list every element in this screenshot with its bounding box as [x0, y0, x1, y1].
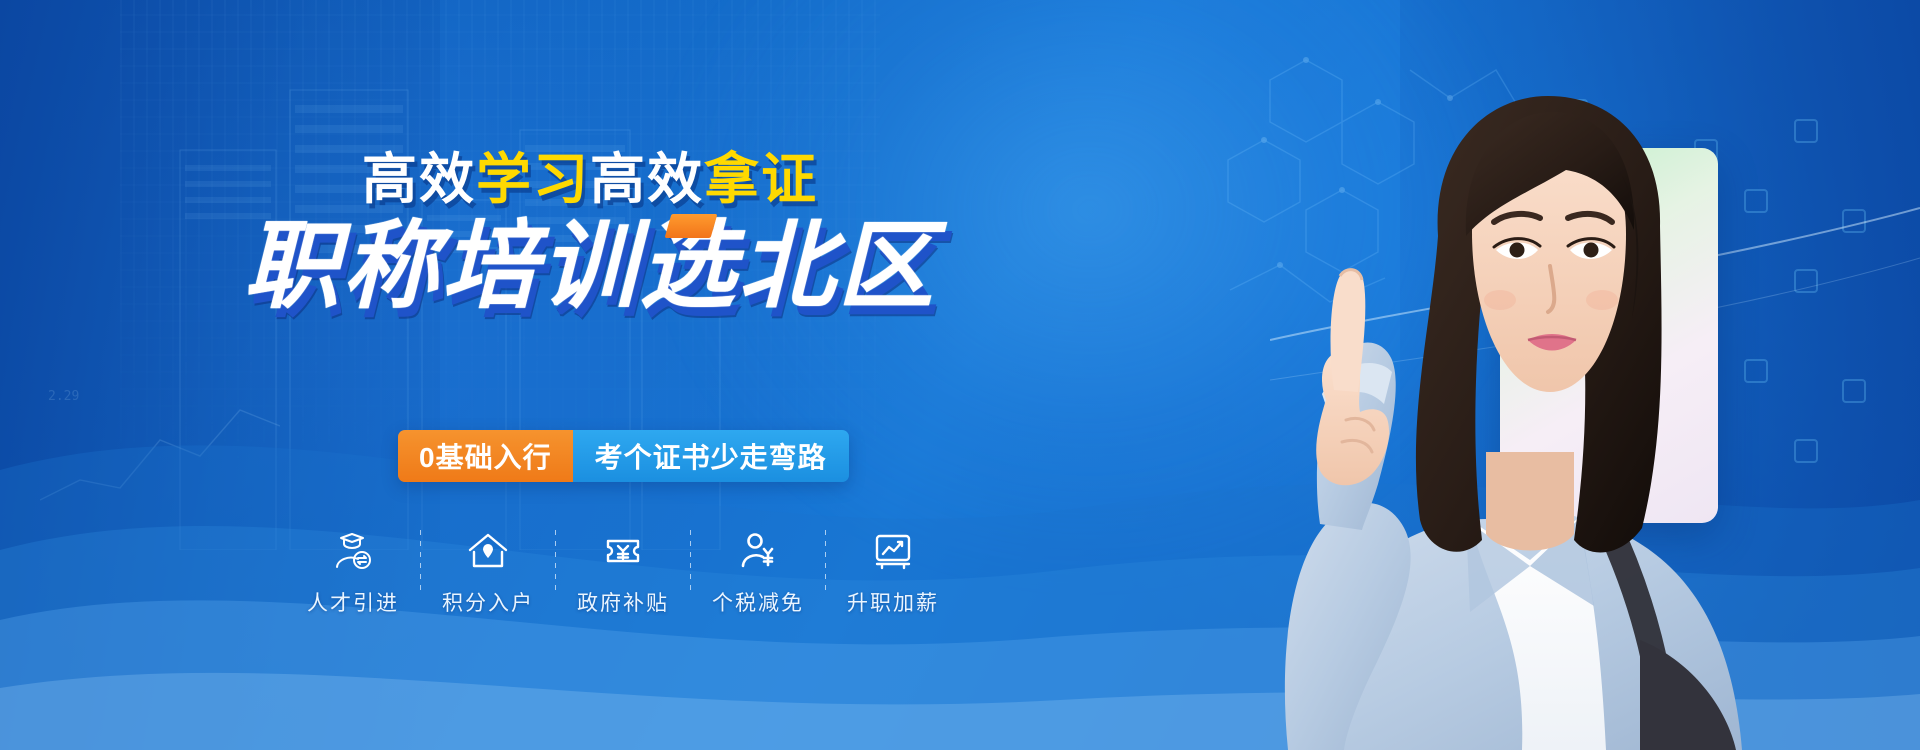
headline-accent-mark — [665, 214, 718, 238]
feature-item-tax-reduction[interactable]: 个税减免 — [691, 528, 825, 617]
feature-label: 积分入户 — [442, 587, 534, 617]
promo-banner: 2.29 高效学习高效拿证 职称培训选北区 0基础入行 考个证书少走弯路 — [0, 0, 1920, 750]
presenter-area — [1170, 0, 1920, 750]
kicker-segment-1: 高效 — [362, 148, 476, 210]
badge-primary-label: 0基础入行 — [398, 430, 573, 482]
badge-secondary-label: 考个证书少走弯路 — [573, 430, 849, 482]
banner-kicker: 高效学习高效拿证 — [0, 152, 1180, 207]
person-yuan-icon — [736, 528, 780, 574]
feature-label: 政府补贴 — [577, 587, 669, 617]
kicker-segment-4: 拿证 — [704, 148, 818, 210]
kicker-segment-3: 高效 — [590, 148, 704, 210]
feature-label: 升职加薪 — [847, 587, 939, 617]
graduate-person-icon — [331, 528, 375, 574]
house-pin-icon — [466, 528, 510, 574]
feature-label: 个税减免 — [712, 587, 804, 617]
chart-board-icon — [871, 528, 915, 574]
banner-content: 高效学习高效拿证 职称培训选北区 0基础入行 考个证书少走弯路 — [0, 0, 1180, 750]
feature-item-government-subsidy[interactable]: 政府补贴 — [556, 528, 690, 617]
presenter-photo — [1170, 0, 1920, 750]
banner-badge: 0基础入行 考个证书少走弯路 — [398, 430, 849, 482]
kicker-segment-2: 学习 — [476, 148, 590, 210]
headline-text: 职称培训选北区 — [244, 210, 937, 322]
banner-headline: 职称培训选北区 — [0, 218, 1180, 314]
feature-item-points-residency[interactable]: 积分入户 — [421, 528, 555, 617]
feature-label: 人才引进 — [307, 587, 399, 617]
feature-item-talent-import[interactable]: 人才引进 — [286, 528, 420, 617]
coupon-yuan-icon — [601, 528, 645, 574]
feature-list: 人才引进 积分入户 — [286, 528, 960, 617]
feature-item-promotion-raise[interactable]: 升职加薪 — [826, 528, 960, 617]
